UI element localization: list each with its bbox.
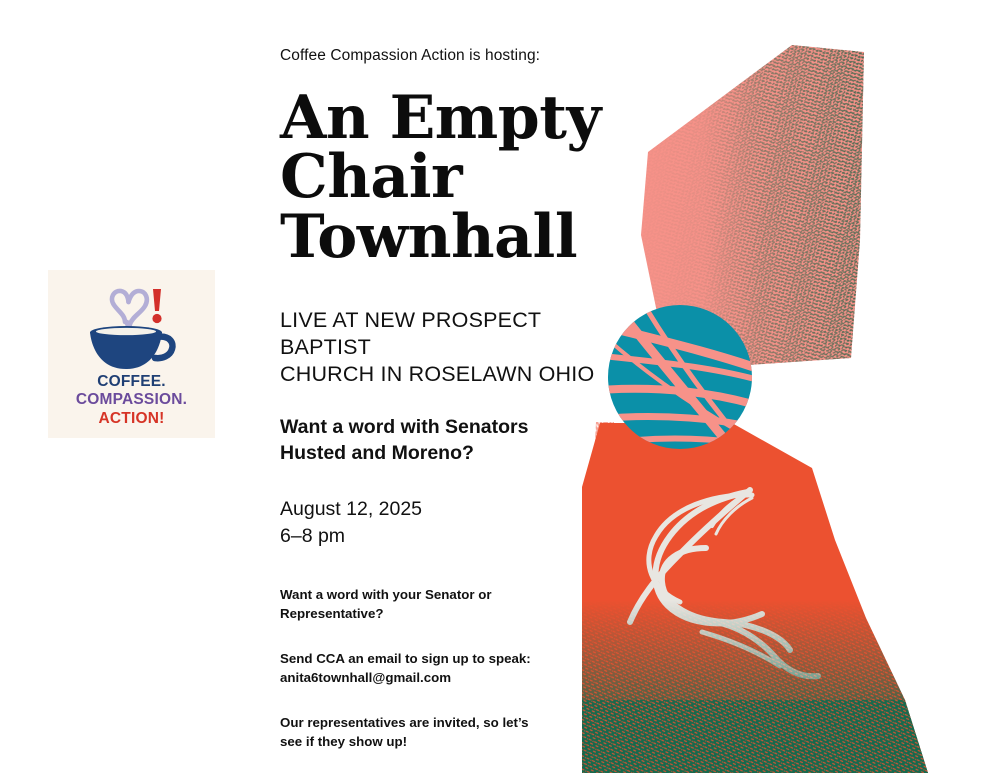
exclamation-mark-icon bbox=[152, 289, 161, 323]
page-title: An Empty Chair Townhall bbox=[280, 89, 610, 267]
cca-logo-card: COFFEE. COMPASSION. ACTION! bbox=[48, 270, 215, 438]
green-speckle-band bbox=[570, 595, 970, 773]
logo-word-compassion: COMPASSION. bbox=[76, 391, 187, 409]
hosting-eyebrow: Coffee Compassion Action is hosting: bbox=[280, 46, 610, 67]
fineprint-representative: Want a word with your Senator or Represe… bbox=[280, 585, 610, 623]
pink-polygon-shape bbox=[620, 30, 880, 375]
white-scribble-lines bbox=[630, 490, 818, 676]
pink-brush-strokes bbox=[596, 308, 772, 446]
logo-wordmark: COFFEE. COMPASSION. ACTION! bbox=[76, 373, 187, 428]
poster-content: Coffee Compassion Action is hosting: An … bbox=[280, 46, 610, 751]
fineprint-show-up: Our representatives are invited, so let’… bbox=[280, 713, 610, 751]
logo-word-coffee: COFFEE. bbox=[76, 373, 187, 391]
coffee-cup-icon bbox=[80, 279, 184, 371]
heart-steam-icon bbox=[111, 291, 146, 326]
fineprint-email-signup: Send CCA an email to sign up to speak: a… bbox=[280, 649, 610, 687]
orange-polygon-shape bbox=[570, 423, 970, 773]
venue-text: LIVE AT NEW PROSPECT BAPTIST CHURCH IN R… bbox=[280, 307, 610, 388]
teal-circle-shape bbox=[596, 305, 772, 449]
date-time-text: August 12, 2025 6–8 pm bbox=[280, 496, 610, 550]
logo-word-action: ACTION! bbox=[76, 410, 187, 428]
ask-senators-text: Want a word with Senators Husted and Mor… bbox=[280, 415, 610, 466]
